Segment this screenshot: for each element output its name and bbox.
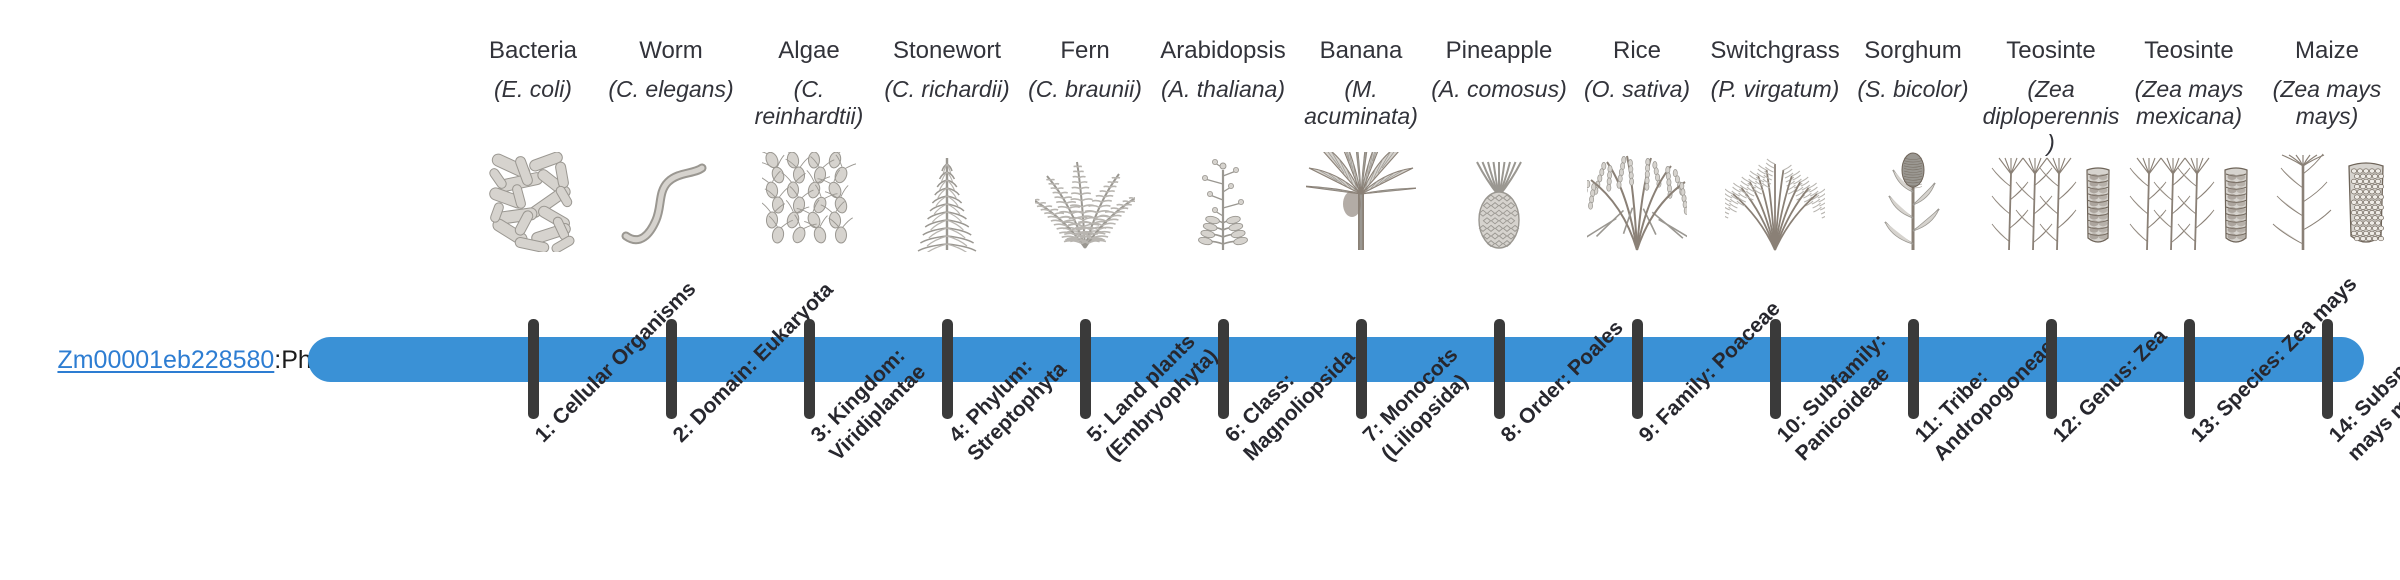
species-column: Sorghum(S. bicolor) bbox=[1844, 36, 1982, 103]
sorghum-icon bbox=[1844, 152, 1982, 252]
fern-icon bbox=[1016, 152, 1154, 252]
species-scientific-name: (A. comosus) bbox=[1430, 76, 1568, 103]
species-column: Stonewort(C. richardii) bbox=[878, 36, 1016, 103]
species-scientific-name: (Zea mays mays) bbox=[2258, 76, 2396, 130]
maize-icon bbox=[2258, 152, 2396, 252]
phylostratum-tick bbox=[1632, 319, 1643, 419]
species-scientific-name: (Zea mays mexicana) bbox=[2120, 76, 2258, 130]
species-common-name: Fern bbox=[1016, 36, 1154, 66]
species-column: Pineapple(A. comosus) bbox=[1430, 36, 1568, 103]
species-common-name: Switchgrass bbox=[1706, 36, 1844, 66]
species-column: Banana(M. acuminata) bbox=[1292, 36, 1430, 130]
species-column: Arabidopsis(A. thaliana) bbox=[1154, 36, 1292, 103]
phylostratum-tick bbox=[1356, 319, 1367, 419]
gene-id-link[interactable]: Zm00001eb228580 bbox=[57, 346, 274, 375]
species-common-name: Sorghum bbox=[1844, 36, 1982, 66]
species-scientific-name: (Zea diploperennis) bbox=[1982, 76, 2120, 157]
phylostratum-tick bbox=[1770, 319, 1781, 419]
teosinte-ear-icon bbox=[2120, 152, 2258, 252]
species-scientific-name: (C. reinhardtii) bbox=[740, 76, 878, 130]
arabidopsis-icon bbox=[1154, 152, 1292, 252]
species-column: Rice(O. sativa) bbox=[1568, 36, 1706, 103]
phylostratum-tick bbox=[528, 319, 539, 419]
species-column: Bacteria(E. coli) bbox=[464, 36, 602, 103]
species-common-name: Algae bbox=[740, 36, 878, 66]
species-common-name: Bacteria bbox=[464, 36, 602, 66]
species-column: Maize(Zea mays mays) bbox=[2258, 36, 2396, 130]
phylostratum-tick bbox=[1908, 319, 1919, 419]
teosinte-icon bbox=[1982, 152, 2120, 252]
species-common-name: Rice bbox=[1568, 36, 1706, 66]
banana-icon bbox=[1292, 152, 1430, 252]
bacteria-icon bbox=[464, 152, 602, 252]
species-scientific-name: (S. bicolor) bbox=[1844, 76, 1982, 103]
species-column: Algae(C. reinhardtii) bbox=[740, 36, 878, 130]
species-common-name: Pineapple bbox=[1430, 36, 1568, 66]
phylostratum-tick bbox=[2184, 319, 2195, 419]
species-common-name: Worm bbox=[602, 36, 740, 66]
species-common-name: Banana bbox=[1292, 36, 1430, 66]
phylostratum-tick bbox=[2322, 319, 2333, 419]
species-column: Teosinte(Zea mays mexicana) bbox=[2120, 36, 2258, 130]
algae-icon bbox=[740, 152, 878, 252]
species-scientific-name: (O. sativa) bbox=[1568, 76, 1706, 103]
gene-label-separator: : bbox=[274, 346, 281, 375]
stonewort-icon bbox=[878, 152, 1016, 252]
species-scientific-name: (A. thaliana) bbox=[1154, 76, 1292, 103]
switchgrass-icon bbox=[1706, 152, 1844, 252]
species-common-name: Teosinte bbox=[2120, 36, 2258, 66]
rice-icon bbox=[1568, 152, 1706, 252]
species-common-name: Arabidopsis bbox=[1154, 36, 1292, 66]
species-common-name: Maize bbox=[2258, 36, 2396, 66]
phylostratum-tick bbox=[1080, 319, 1091, 419]
phylostratum-tick bbox=[1494, 319, 1505, 419]
species-scientific-name: (C. braunii) bbox=[1016, 76, 1154, 103]
species-column: Fern(C. braunii) bbox=[1016, 36, 1154, 103]
worm-icon bbox=[602, 152, 740, 252]
species-common-name: Stonewort bbox=[878, 36, 1016, 66]
species-column: Switchgrass(P. virgatum) bbox=[1706, 36, 1844, 103]
phylostratum-tick bbox=[1218, 319, 1229, 419]
species-column: Worm(C. elegans) bbox=[602, 36, 740, 103]
species-scientific-name: (M. acuminata) bbox=[1292, 76, 1430, 130]
species-column: Teosinte(Zea diploperennis) bbox=[1982, 36, 2120, 157]
species-common-name: Teosinte bbox=[1982, 36, 2120, 66]
species-scientific-name: (E. coli) bbox=[464, 76, 602, 103]
phylostratum-tick bbox=[804, 319, 815, 419]
phylostratum-tick bbox=[942, 319, 953, 419]
species-scientific-name: (C. elegans) bbox=[602, 76, 740, 103]
pineapple-icon bbox=[1430, 152, 1568, 252]
species-scientific-name: (P. virgatum) bbox=[1706, 76, 1844, 103]
species-scientific-name: (C. richardii) bbox=[878, 76, 1016, 103]
phylostratum-tick bbox=[666, 319, 677, 419]
phylostratigraphy-figure: Zm00001eb228580: Phylostratum 1 Bacteria… bbox=[0, 0, 2400, 580]
phylostratum-tick bbox=[2046, 319, 2057, 419]
